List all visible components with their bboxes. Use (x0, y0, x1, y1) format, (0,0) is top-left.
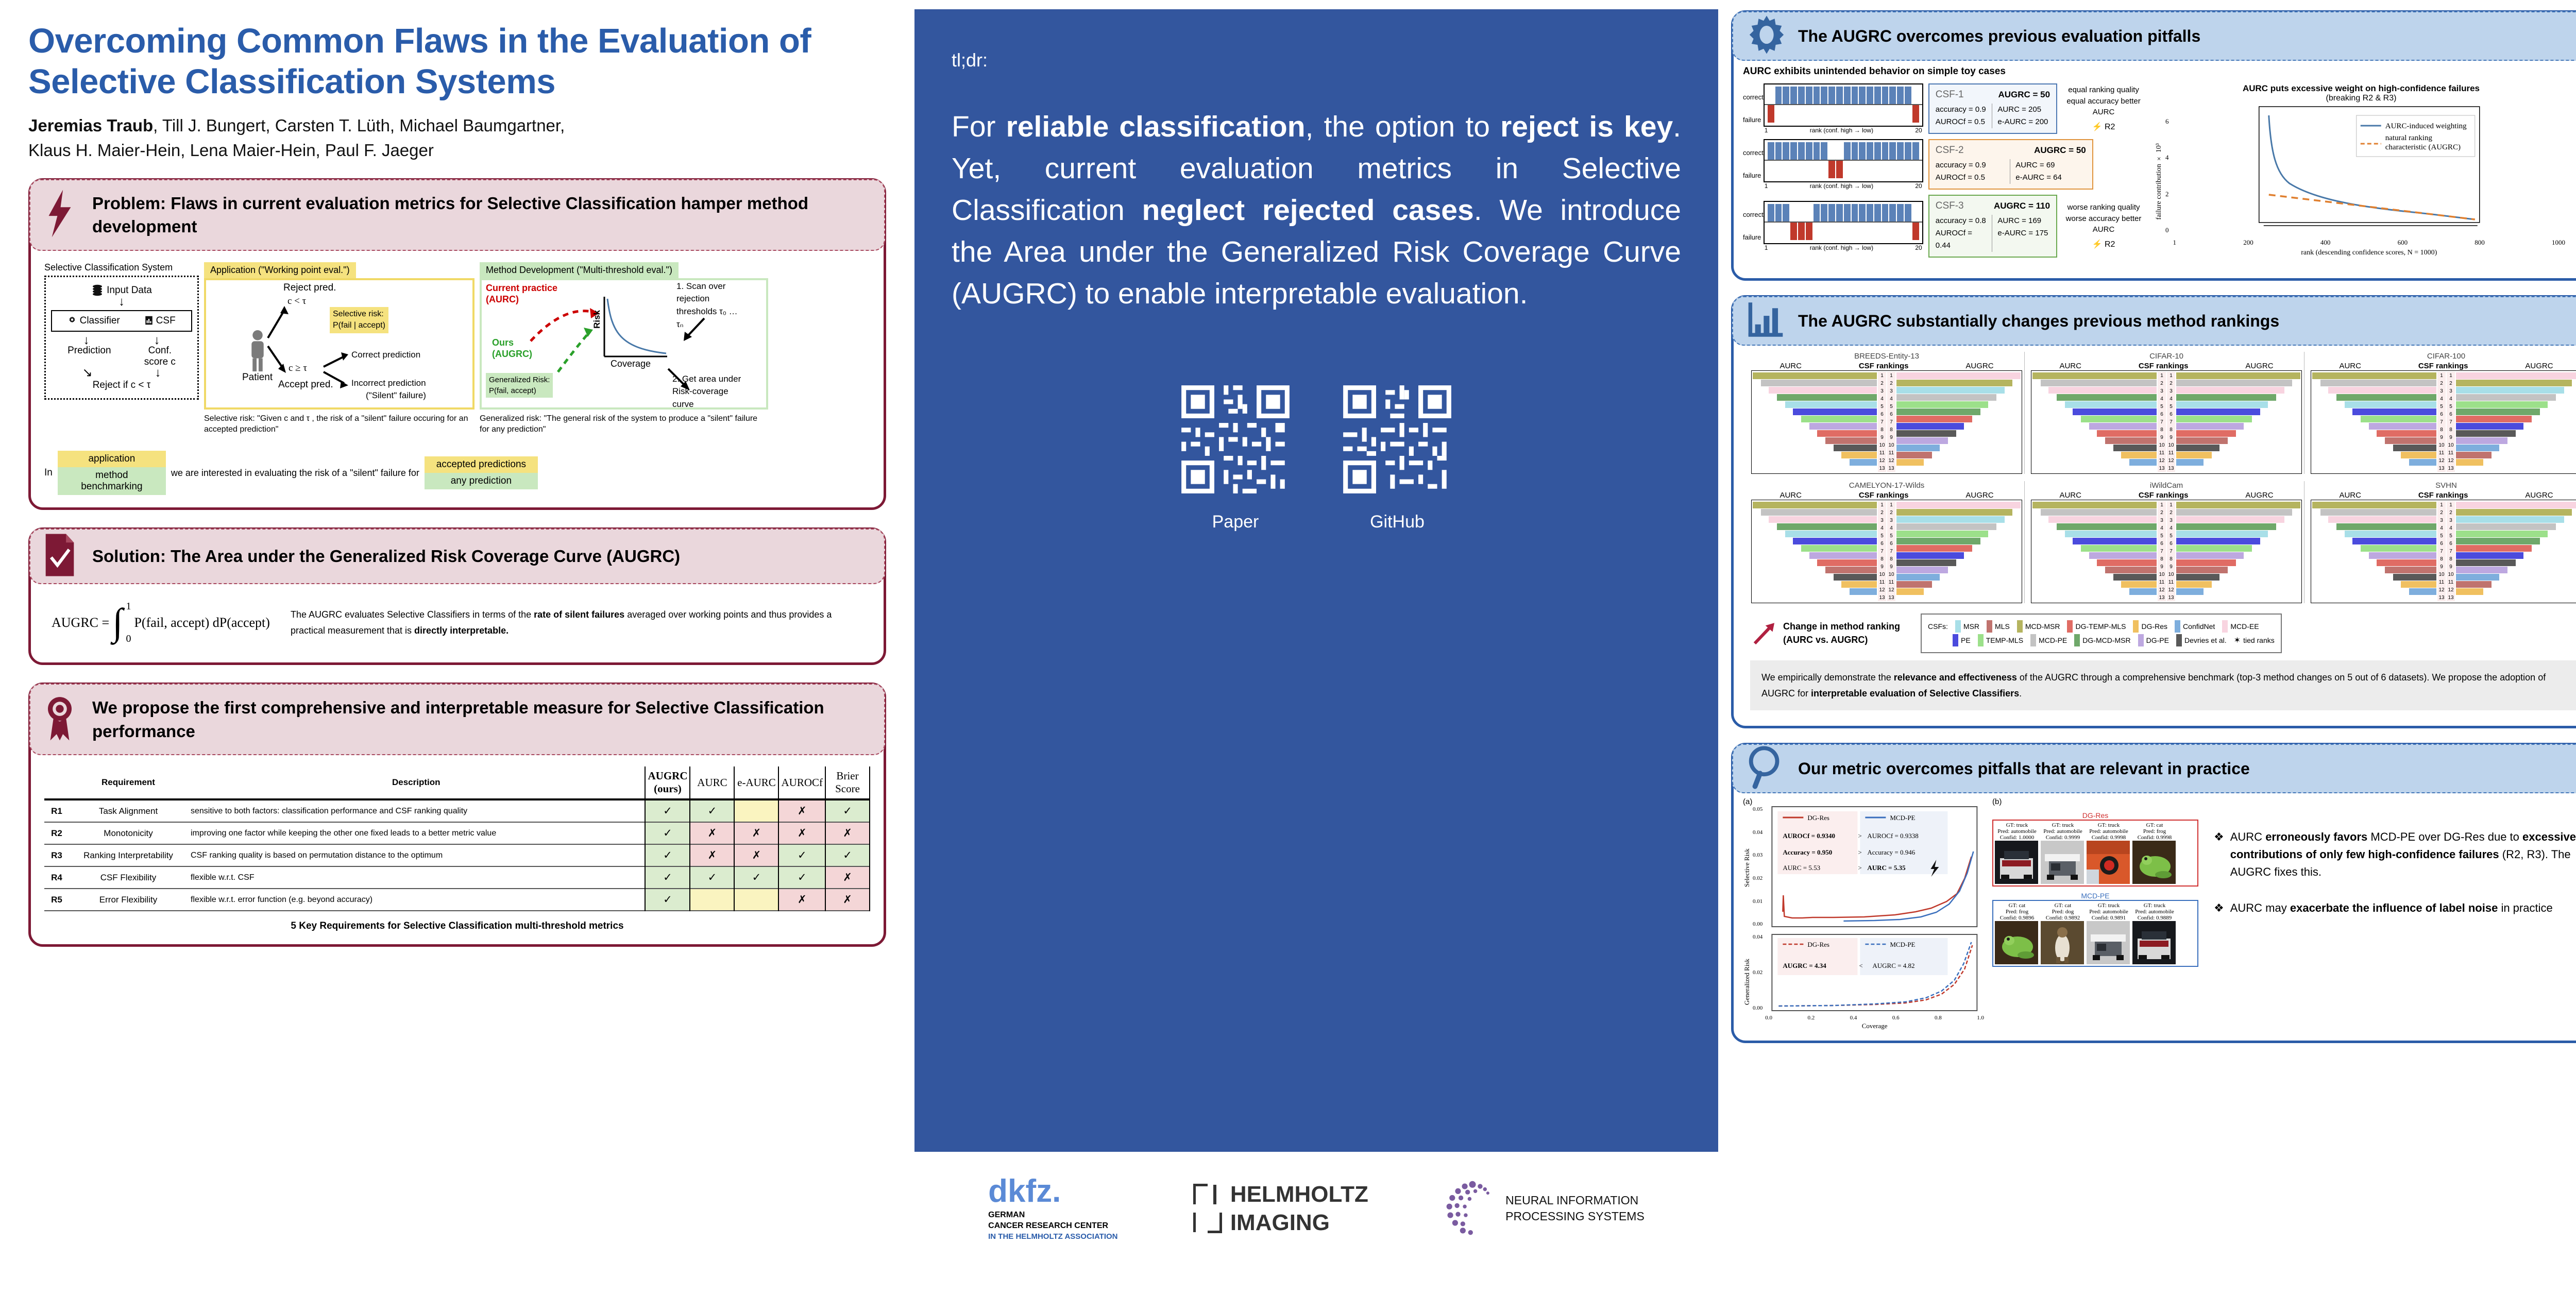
example-pred: Pred: dog (2041, 909, 2085, 915)
rank-mid-label: CSF rankings (1859, 491, 1909, 500)
method-dev-tag: Method Development ("Multi-threshold eva… (480, 262, 679, 278)
row-mark (690, 889, 734, 911)
tldr-emphasis: reliable classification (1006, 110, 1306, 143)
rankings-body: BREEDS-Entity-13AURCCSF rankingsAUGRC123… (1734, 346, 2576, 726)
scs-label: Selective Classification System (44, 262, 199, 273)
bullet-item: ❖AURC may exacerbate the influence of la… (2214, 899, 2576, 917)
method-dev-panel: Method Development ("Multi-threshold eva… (480, 262, 768, 435)
row-mark: ✗ (734, 822, 778, 844)
toy-plot: 1rank (conf. high → low)20 (1764, 139, 1923, 190)
lightning-bolt-icon (44, 190, 76, 240)
example-thumbnail (2087, 921, 2130, 964)
example-pred: Pred: automobile (1995, 828, 2039, 834)
xtick: 0.4 (1850, 1015, 1857, 1021)
table-row: R5Error Flexibilityflexible w.r.t. error… (44, 889, 870, 911)
requirements-table: Requirement Description AUGRC (ours) AUR… (44, 766, 870, 911)
pitfalls-heading: The AUGRC overcomes previous evaluation … (1798, 25, 2200, 47)
scs-input-label: Input Data (107, 285, 152, 296)
row-requirement: Error Flexibility (69, 889, 188, 911)
toy-case-name: CSF-2 (1936, 145, 1964, 156)
augrc-formula-row: AUGRC = ∫ 1 0 P(fail, accept) dP(accept)… (44, 595, 870, 650)
neurips-line2: PROCESSING SYSTEMS (1505, 1208, 1645, 1224)
dkfz-sub2: CANCER RESEARCH CENTER (988, 1221, 1117, 1232)
svg-text:<: < (1859, 962, 1863, 969)
example-pred: Pred: frog (2132, 828, 2177, 834)
correct-prediction-label: Correct prediction (351, 350, 420, 360)
problem-header: Problem: Flaws in current evaluation met… (29, 179, 885, 251)
qr-area: Paper (952, 381, 1681, 532)
row-mark: ✗ (690, 822, 734, 844)
legend-item: TEMP-MLS (1978, 634, 2023, 646)
qr-code-paper[interactable] (1177, 381, 1294, 498)
problem-bottom-sentence: In application method benchmarking we ar… (44, 451, 870, 495)
qr-caption-github: GitHub (1338, 512, 1456, 532)
scs-csf-label: CSF (156, 315, 176, 326)
practice-header: Our metric overcomes pitfalls that are r… (1732, 744, 2576, 793)
example-cell: GT: catPred: dogConfid: 0.9892 (2041, 902, 2085, 964)
authors-rest: , Till J. Bungert, Carsten T. Lüth, Mich… (153, 116, 565, 135)
section-pitfalls: The AUGRC overcomes previous evaluation … (1731, 10, 2576, 281)
xtick: 1.0 (1977, 1015, 1984, 1021)
generalized-risk-yticks: 0.040.020.00 (1753, 934, 1762, 1011)
rank-left-metric: AURC (2059, 362, 2081, 370)
toy-plot-wrap: correctfailure1rank (conf. high → low)20 (1743, 139, 1923, 190)
legend-label: PE (1961, 636, 1971, 644)
rank-mid-label: CSF rankings (2418, 491, 2468, 500)
table-row: R2Monotonicityimproving one factor while… (44, 822, 870, 844)
example-cell: GT: truckPred: automobileConfid: 0.9998 (2087, 822, 2131, 884)
toy-case: correctfailure1rank (conf. high → low)20… (1743, 139, 2145, 190)
problem-heading: Problem: Flaws in current evaluation met… (92, 192, 869, 238)
ytick: 0.02 (1753, 875, 1762, 881)
toy-card: CSF-2AUGRC = 50accuracy = 0.9AUROCf = 0.… (1928, 139, 2093, 190)
qr-caption-paper: Paper (1177, 512, 1294, 532)
example-cell: GT: truckPred: automobileConfid: 0.9891 (2087, 902, 2131, 964)
weight-yticks: 6 4 2 0 (2165, 117, 2169, 246)
svg-text:>: > (1858, 832, 1862, 840)
svg-text:AURC = 5.53: AURC = 5.53 (1783, 864, 1821, 872)
toy-plot-wrap: correctfailure1rank (conf. high → low)20 (1743, 83, 1923, 134)
row-mark: ✓ (778, 844, 825, 866)
legend-label: DG-MCD-MSR (2082, 636, 2130, 644)
row-requirement: Ranking Interpretability (69, 844, 188, 866)
legend-label: tied ranks (2243, 636, 2275, 644)
example-pred: Pred: automobile (2087, 828, 2131, 834)
toy-case: correctfailure1rank (conf. high → low)20… (1743, 83, 2145, 134)
svg-text:>: > (1858, 848, 1862, 856)
helmholtz-line1: HELMHOLTZ (1230, 1180, 1368, 1208)
legend-label: MLS (1995, 622, 2010, 631)
row-id: R4 (44, 866, 69, 889)
qr-item-paper[interactable]: Paper (1177, 381, 1294, 532)
requirements-thead: Requirement Description AUGRC (ours) AUR… (44, 766, 870, 799)
example-confid: Confid: 1.0000 (1995, 834, 2039, 841)
rank-right-metric: AUGRC (1965, 362, 1993, 370)
svg-text:AUROCf = 0.9338: AUROCf = 0.9338 (1868, 832, 1919, 840)
award-ribbon-icon (44, 694, 76, 744)
row-mark: ✗ (778, 799, 825, 822)
scs-arrows-2: ↓↓ (51, 335, 192, 345)
coverage-xlabel: Coverage (1764, 1022, 1985, 1030)
toy-accuracy: accuracy = 0.8 (1936, 215, 1988, 227)
section-solution: Solution: The Area under the Generalized… (28, 527, 886, 665)
th-augrc: AUGRC (ours) (645, 766, 690, 799)
example-pred: Pred: frog (1995, 909, 2039, 915)
ranking-cell: BREEDS-Entity-13AURCCSF rankingsAUGRC123… (1749, 352, 2025, 474)
selective-risk-caption: Selective risk: "Given c and τ , the ris… (204, 413, 474, 435)
row-description: CSF ranking quality is based on permutat… (188, 844, 645, 866)
example-thumbnail (1995, 921, 2038, 964)
toy-plot-wrap: correctfailure1rank (conf. high → low)20 (1743, 201, 1923, 251)
toy-card: CSF-1AUGRC = 50accuracy = 0.9AUROCf = 0.… (1928, 83, 2057, 134)
legend-item: DG-Res (2133, 620, 2167, 633)
toy-cases-container: correctfailure1rank (conf. high → low)20… (1743, 83, 2145, 263)
section-practice: Our metric overcomes pitfalls that are r… (1731, 743, 2576, 1043)
practice-bullets: ❖AURC erroneously favors MCD-PE over DG-… (2206, 797, 2576, 1030)
csf-legend-box: CSFs: MSRMLSMCD-MSRDG-TEMP-MLSDG-ResConf… (1921, 614, 2282, 653)
example-thumbnail (2041, 921, 2084, 964)
xtick: 0.2 (1807, 1015, 1815, 1021)
rank-right-metric: AUGRC (2525, 362, 2553, 370)
row-id: R2 (44, 822, 69, 844)
toy-eaurc: e-AURC = 64 (2015, 172, 2086, 184)
row-id: R1 (44, 799, 69, 822)
rank-left-metric: AURC (1780, 362, 1802, 370)
toy-aurc: AURC = 69 (2015, 159, 2086, 172)
rank-plot: 1234567891011121312345678910111213 (2311, 370, 2576, 474)
tldr-text: For reliable classification, the option … (952, 106, 1681, 315)
rank-plot: 1234567891011121312345678910111213 (2031, 370, 2302, 474)
generalized-risk-chart: DG-Res MCD-PE AUGRC = 4.34 < AUGRC = 4.8… (1764, 934, 1985, 1011)
row-requirement: Task Alignment (69, 799, 188, 822)
augrc-description: The AUGRC evaluates Selective Classifier… (291, 607, 863, 639)
bullet-item: ❖AURC erroneously favors MCD-PE over DG-… (2214, 828, 2576, 881)
rankings-row-1: BREEDS-Entity-13AURCCSF rankingsAUGRC123… (1741, 351, 2576, 475)
silent-failure-label: ("Silent" failure) (366, 390, 426, 401)
toy-aurc: AURC = 205 (1997, 104, 2050, 116)
rank-mid-label: CSF rankings (2418, 362, 2468, 370)
table-caption: 5 Key Requirements for Selective Classif… (44, 921, 870, 932)
integral-limits: 1 0 (126, 601, 131, 645)
legend-label: DG-TEMP-MLS (2075, 622, 2126, 631)
th-description: Description (188, 766, 645, 799)
table-row: R3Ranking InterpretabilityCSF ranking qu… (44, 844, 870, 866)
svg-text:Accuracy = 0.946: Accuracy = 0.946 (1868, 848, 1916, 856)
table-row: R1Task Alignmentsensitive to both factor… (44, 799, 870, 822)
toy-axis: 1rank (conf. high → low)20 (1764, 182, 1923, 190)
helmholtz-bracket-icon (1193, 1184, 1222, 1233)
formula-integrand: P(fail, accept) dP(accept) (134, 615, 269, 631)
toy-aurocf: AUROCf = 0.5 (1936, 172, 2006, 184)
arrow-legend-line2: (AURC vs. AUGRC) (1783, 634, 1900, 646)
row-mark: ✓ (645, 889, 690, 911)
toy-note: worse ranking quality worse accuracy bet… (2062, 202, 2145, 250)
legend-item: MCD-PE (2030, 634, 2067, 646)
qr-item-github[interactable]: GitHub (1338, 381, 1456, 532)
xtick: 0.8 (1935, 1015, 1942, 1021)
application-panel: Application ("Working point eval.") Reje… (204, 262, 474, 435)
measure-body: Requirement Description AUGRC (ours) AUR… (31, 755, 884, 944)
row-mark: ✗ (825, 889, 870, 911)
weight-chart-title2: (breaking R2 & R3) (2155, 94, 2567, 103)
sentence-prefix: In (44, 467, 53, 479)
method-dev-body: Current practice (AURC) Ours (AUGRC) Gen… (480, 278, 768, 410)
panel-b-label: (b) (1992, 797, 2198, 806)
example-cell: GT: truckPred: automobileConfid: 0.9889 (2132, 902, 2177, 964)
measure-heading: We propose the first comprehensive and i… (92, 696, 869, 743)
neurips-logo: NEURAL INFORMATION PROCESSING SYSTEMS (1444, 1180, 1645, 1237)
row-mark: ✓ (690, 866, 734, 889)
weight-xticks: 1 200 400 600 800 1000 (2171, 237, 2568, 248)
th-eaurc: e-AURC (734, 766, 778, 799)
rank-left-metric: AURC (2339, 362, 2361, 370)
legend-item: MCD-MSR (2017, 620, 2060, 633)
sentence-middle: we are interested in evaluating the risk… (171, 468, 419, 479)
examples-container: DG-ResGT: truckPred: automobileConfid: 1… (1992, 811, 2198, 967)
gear-icon (67, 316, 77, 325)
xtick: 0.0 (1765, 1015, 1772, 1021)
rank-left-metric: AURC (2339, 491, 2361, 500)
tldr-label: tl;dr: (952, 49, 1681, 71)
toy-note: equal ranking quality equal accuracy bet… (2062, 84, 2145, 133)
row-id: R5 (44, 889, 69, 911)
legend-item: ConfidNet (2175, 620, 2215, 633)
rank-plot: 1234567891011121312345678910111213 (1751, 500, 2022, 603)
bar-chart-icon (1747, 301, 1785, 342)
coverage-xticks: 0.00.20.40.60.81.0 (1764, 1014, 1985, 1022)
example-confid: Confid: 0.9998 (2087, 834, 2131, 841)
svg-text:DG-Res: DG-Res (1808, 814, 1830, 822)
row-mark: ✓ (778, 866, 825, 889)
formula-lhs: AUGRC = (52, 615, 109, 631)
row-mark: ✓ (690, 799, 734, 822)
example-cell: GT: truckPred: automobileConfid: 0.9999 (2041, 822, 2085, 884)
practice-panel-a: (a) Selective Risk 0.050.040.030.020.010… (1743, 797, 1985, 1030)
example-thumbnail (2132, 921, 2176, 964)
row-mark: ✓ (645, 799, 690, 822)
example-confid: Confid: 0.9891 (2087, 915, 2131, 921)
row-id: R3 (44, 844, 69, 866)
row-mark: ✗ (734, 844, 778, 866)
legend-item: ✶tied ranks (2234, 634, 2275, 646)
row-mark: ✓ (645, 822, 690, 844)
dataset-name: iWildCam (2031, 481, 2302, 490)
example-gt: GT: truck (1995, 822, 2039, 828)
toy-aurocf: AUROCf = 0.44 (1936, 227, 1988, 252)
example-thumbnail (2132, 841, 2176, 884)
csf-legend-row-1: CSFs: MSRMLSMCD-MSRDG-TEMP-MLSDG-ResConf… (1928, 620, 2275, 633)
application-tag: Application ("Working point eval.") (204, 262, 356, 278)
arrow-legend-line1: Change in method ranking (1783, 620, 1900, 633)
scs-arrows-3: ↘↓ (51, 368, 192, 378)
dkfz-wordmark: dkfz. (988, 1175, 1117, 1207)
row-mark: ✓ (825, 844, 870, 866)
svg-text:characteristic (AUGRC): characteristic (AUGRC) (2385, 143, 2460, 151)
solution-body: AUGRC = ∫ 1 0 P(fail, accept) dP(accept)… (31, 584, 884, 662)
generalized-risk-ylabel: Generalized Risk (1743, 934, 1751, 1030)
page-title: Overcoming Common Flaws in the Evaluatio… (28, 21, 886, 102)
scs-classifier-label: Classifier (80, 315, 120, 326)
rank-left-metric: AURC (2059, 491, 2081, 500)
neurips-dots-icon (1444, 1180, 1501, 1237)
legend-label: Devries et al. (2184, 636, 2227, 644)
pitfalls-header: The AUGRC overcomes previous evaluation … (1732, 11, 2576, 61)
legend-item: DG-PE (2138, 634, 2169, 646)
generalized-risk-caption: Generalized risk: "The general risk of t… (480, 413, 768, 435)
legend-item: Devries et al. (2176, 634, 2227, 646)
neurips-line1: NEURAL INFORMATION (1505, 1192, 1645, 1208)
change-arrow-legend: Change in method ranking (AURC vs. AUGRC… (1751, 620, 1900, 647)
rank-left-metric: AURC (1780, 491, 1802, 500)
ranking-cell: iWildCamAURCCSF rankingsAUGRC12345678910… (2029, 481, 2304, 603)
rank-plot: 1234567891011121312345678910111213 (2031, 500, 2302, 603)
toy-eaurc: e-AURC = 175 (1997, 227, 2050, 240)
rank-plot: 1234567891011121312345678910111213 (1751, 370, 2022, 474)
ytick: 0.03 (1753, 852, 1762, 858)
dkfz-sub3: IN THE HELMHOLTZ ASSOCIATION (988, 1232, 1117, 1242)
pitfalls-figures: correctfailure1rank (conf. high → low)20… (1743, 81, 2576, 270)
scs-classifier: Classifier (67, 315, 120, 327)
toy-accuracy: accuracy = 0.9 (1936, 104, 1988, 116)
pitfalls-body: AURC exhibits unintended behavior on sim… (1734, 61, 2576, 278)
helmholtz-imaging-logo: HELMHOLTZ IMAGING (1193, 1180, 1368, 1237)
row-mark (734, 889, 778, 911)
toy-case-name: CSF-3 (1936, 200, 1964, 212)
row-requirement: CSF Flexibility (69, 866, 188, 889)
tldr-emphasis: neglect rejected cases (1142, 194, 1474, 227)
scs-inner: Input Data ↓ Classifier (44, 276, 199, 400)
th-aurc: AURC (690, 766, 734, 799)
requirements-tbody: R1Task Alignmentsensitive to both factor… (44, 799, 870, 911)
scs-diagram: Selective Classification System Input Da… (44, 262, 199, 400)
toy-axis: 1rank (conf. high → low)20 (1764, 244, 1923, 251)
toy-bars (1764, 139, 1923, 182)
center-column: tl;dr: For reliable classification, the … (914, 0, 1718, 1312)
row-mark: ✗ (825, 822, 870, 844)
rankings-header: The AUGRC substantially changes previous… (1732, 296, 2576, 346)
example-gt: GT: cat (2041, 902, 2085, 909)
example-thumbnail (2041, 841, 2084, 884)
ytick: 0.04 (1753, 829, 1762, 836)
practice-body: (a) Selective Risk 0.050.040.030.020.010… (1734, 793, 2576, 1041)
xtick: 0.6 (1892, 1015, 1900, 1021)
measure-header: We propose the first comprehensive and i… (29, 684, 885, 755)
example-confid: Confid: 0.9892 (2041, 915, 2085, 921)
example-cell: GT: catPred: frogConfid: 0.9896 (1995, 902, 2039, 964)
ytick: 0.02 (1753, 969, 1762, 976)
toy-axis: 1rank (conf. high → low)20 (1764, 127, 1923, 134)
dataset-name: SVHN (2311, 481, 2576, 490)
example-method-name: DG-Res (1992, 811, 2198, 820)
dkfz-sub1: GERMAN (988, 1210, 1117, 1221)
coverage-axis-label: Coverage (611, 359, 651, 369)
th-requirement: Requirement (69, 766, 188, 799)
section-measure: We propose the first comprehensive and i… (28, 683, 886, 947)
svg-text:AUGRC = 4.34: AUGRC = 4.34 (1783, 962, 1827, 969)
tldr-fragment: For (952, 110, 1006, 143)
legend-label: TEMP-MLS (1986, 636, 2023, 644)
legend-label: MCD-MSR (2025, 622, 2060, 631)
qr-code-github[interactable] (1338, 381, 1456, 498)
example-cell: GT: catPred: frogConfid: 0.9998 (2132, 822, 2177, 884)
choice2-bottom: any prediction (425, 473, 538, 489)
risk-axis-label: Risk (592, 310, 602, 329)
rankings-conclusion: We empirically demonstrate the relevance… (1750, 660, 2576, 710)
rank-plot: 1234567891011121312345678910111213 (2311, 500, 2576, 603)
row-mark: ✓ (645, 844, 690, 866)
dataset-name: CAMELYON-17-Wilds (1751, 481, 2022, 490)
svg-text:natural ranking: natural ranking (2385, 134, 2432, 142)
practice-heading: Our metric overcomes pitfalls that are r… (1798, 757, 2250, 780)
panel-a-label: (a) (1743, 797, 1985, 806)
practice-panel-b: (b) DG-ResGT: truckPred: automobileConfi… (1992, 797, 2198, 1030)
toy-augrc: AUGRC = 110 (1994, 201, 2050, 211)
example-grid: GT: catPred: frogConfid: 0.9896GT: catPr… (1992, 900, 2198, 967)
legend-label: DG-Res (2141, 622, 2167, 631)
legend-item: MCD-EE (2222, 620, 2259, 633)
toy-bars (1764, 201, 1923, 244)
scs-reject-rule: Reject if c < τ (51, 380, 192, 391)
scs-csf: CSF (145, 315, 175, 327)
legend-label: MCD-EE (2230, 622, 2259, 631)
legend-label: MSR (1963, 622, 1979, 631)
tldr-fragment: , the option to (1306, 110, 1501, 143)
example-pred: Pred: automobile (2087, 909, 2131, 915)
ytick: 0.04 (1753, 934, 1762, 940)
svg-text:MCD-PE: MCD-PE (1890, 941, 1916, 948)
weight-chart-title1: AURC puts excessive weight on high-confi… (2155, 83, 2567, 94)
example-thumbnail (1995, 841, 2038, 884)
legend-item: PE (1953, 634, 1971, 646)
dataset-name: CIFAR-10 (2031, 352, 2302, 361)
csf-legend-label: CSFs: (1928, 622, 1948, 631)
dataset-name: CIFAR-100 (2311, 352, 2576, 361)
section-problem: Problem: Flaws in current evaluation met… (28, 178, 886, 510)
legend-label: MCD-PE (2039, 636, 2067, 644)
example-confid: Confid: 0.9889 (2132, 915, 2177, 921)
logo-row: dkfz. GERMAN CANCER RESEARCH CENTER IN T… (914, 1152, 1718, 1241)
row-mark: ✗ (778, 889, 825, 911)
row-mark: ✓ (734, 866, 778, 889)
scs-conf: Conf. score c (144, 345, 176, 368)
legend-item: MLS (1987, 620, 2010, 633)
ranking-cell: CIFAR-10AURCCSF rankingsAUGRC12345678910… (2029, 352, 2304, 474)
toy-case-name: CSF-1 (1936, 89, 1964, 100)
toy-case: correctfailure1rank (conf. high → low)20… (1743, 195, 2145, 258)
tldr-panel: tl;dr: For reliable classification, the … (914, 9, 1718, 1152)
row-mark (734, 799, 778, 822)
toy-accuracy: accuracy = 0.9 (1936, 159, 2006, 172)
ytick: 0.05 (1753, 806, 1762, 812)
example-cell: GT: truckPred: automobileConfid: 1.0000 (1995, 822, 2039, 884)
row-requirement: Monotonicity (69, 822, 188, 844)
choice-stack-2: accepted predictions any prediction (425, 456, 538, 489)
ytick: 0.01 (1753, 898, 1762, 905)
example-method-name: MCD-PE (1992, 892, 2198, 900)
rank-mid-label: CSF rankings (1859, 362, 1909, 370)
example-confid: Confid: 0.9999 (2041, 834, 2085, 841)
toy-ylabels: correctfailure (1743, 203, 1764, 249)
weight-chart-svg: AURC-induced weighting natural ranking c… (2171, 106, 2568, 235)
left-column: Overcoming Common Flaws in the Evaluatio… (0, 0, 914, 1312)
dataset-name: BREEDS-Entity-13 (1751, 352, 2022, 361)
dkfz-logo: dkfz. GERMAN CANCER RESEARCH CENTER IN T… (988, 1175, 1117, 1241)
bullet-text: AURC erroneously favors MCD-PE over DG-R… (2230, 828, 2576, 881)
rank-right-metric: AUGRC (1965, 491, 1993, 500)
scs-outputs: Prediction Conf. score c (51, 345, 192, 368)
selective-risk-yticks: 0.050.040.030.020.010.00 (1753, 806, 1762, 927)
rankings-legend-area: Change in method ranking (AURC vs. AUGRC… (1741, 614, 2576, 653)
